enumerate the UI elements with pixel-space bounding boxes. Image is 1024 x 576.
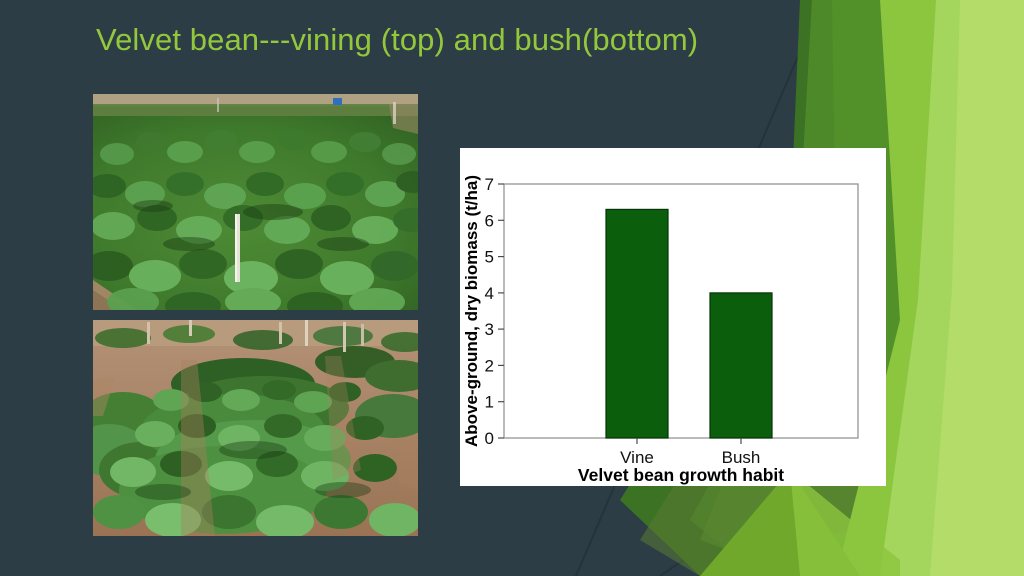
y-tick-label: 4 — [485, 284, 494, 303]
biomass-bar-chart: 0 1 2 3 4 5 6 7 — [460, 148, 886, 486]
page-title: Velvet bean---vining (top) and bush(bott… — [96, 20, 796, 60]
bar-vine — [606, 209, 668, 438]
y-tick-label: 0 — [485, 429, 494, 448]
x-axis-title: Velvet bean growth habit — [578, 465, 784, 485]
bar-bush — [710, 293, 772, 438]
y-tick-label: 2 — [485, 356, 494, 375]
y-axis-title: Above-ground, dry biomass (t/ha) — [462, 175, 481, 447]
y-tick-label: 6 — [485, 211, 494, 230]
vining-velvet-bean-photo — [93, 94, 418, 310]
y-tick-label: 3 — [485, 320, 494, 339]
y-tick-label: 5 — [485, 248, 494, 267]
slide-canvas: Velvet bean---vining (top) and bush(bott… — [0, 0, 1024, 576]
chart-panel: 0 1 2 3 4 5 6 7 — [460, 148, 886, 486]
bush-velvet-bean-photo — [93, 320, 418, 536]
y-tick-label: 7 — [485, 175, 494, 194]
plot-frame — [504, 184, 858, 438]
y-tick-label: 1 — [485, 393, 494, 412]
